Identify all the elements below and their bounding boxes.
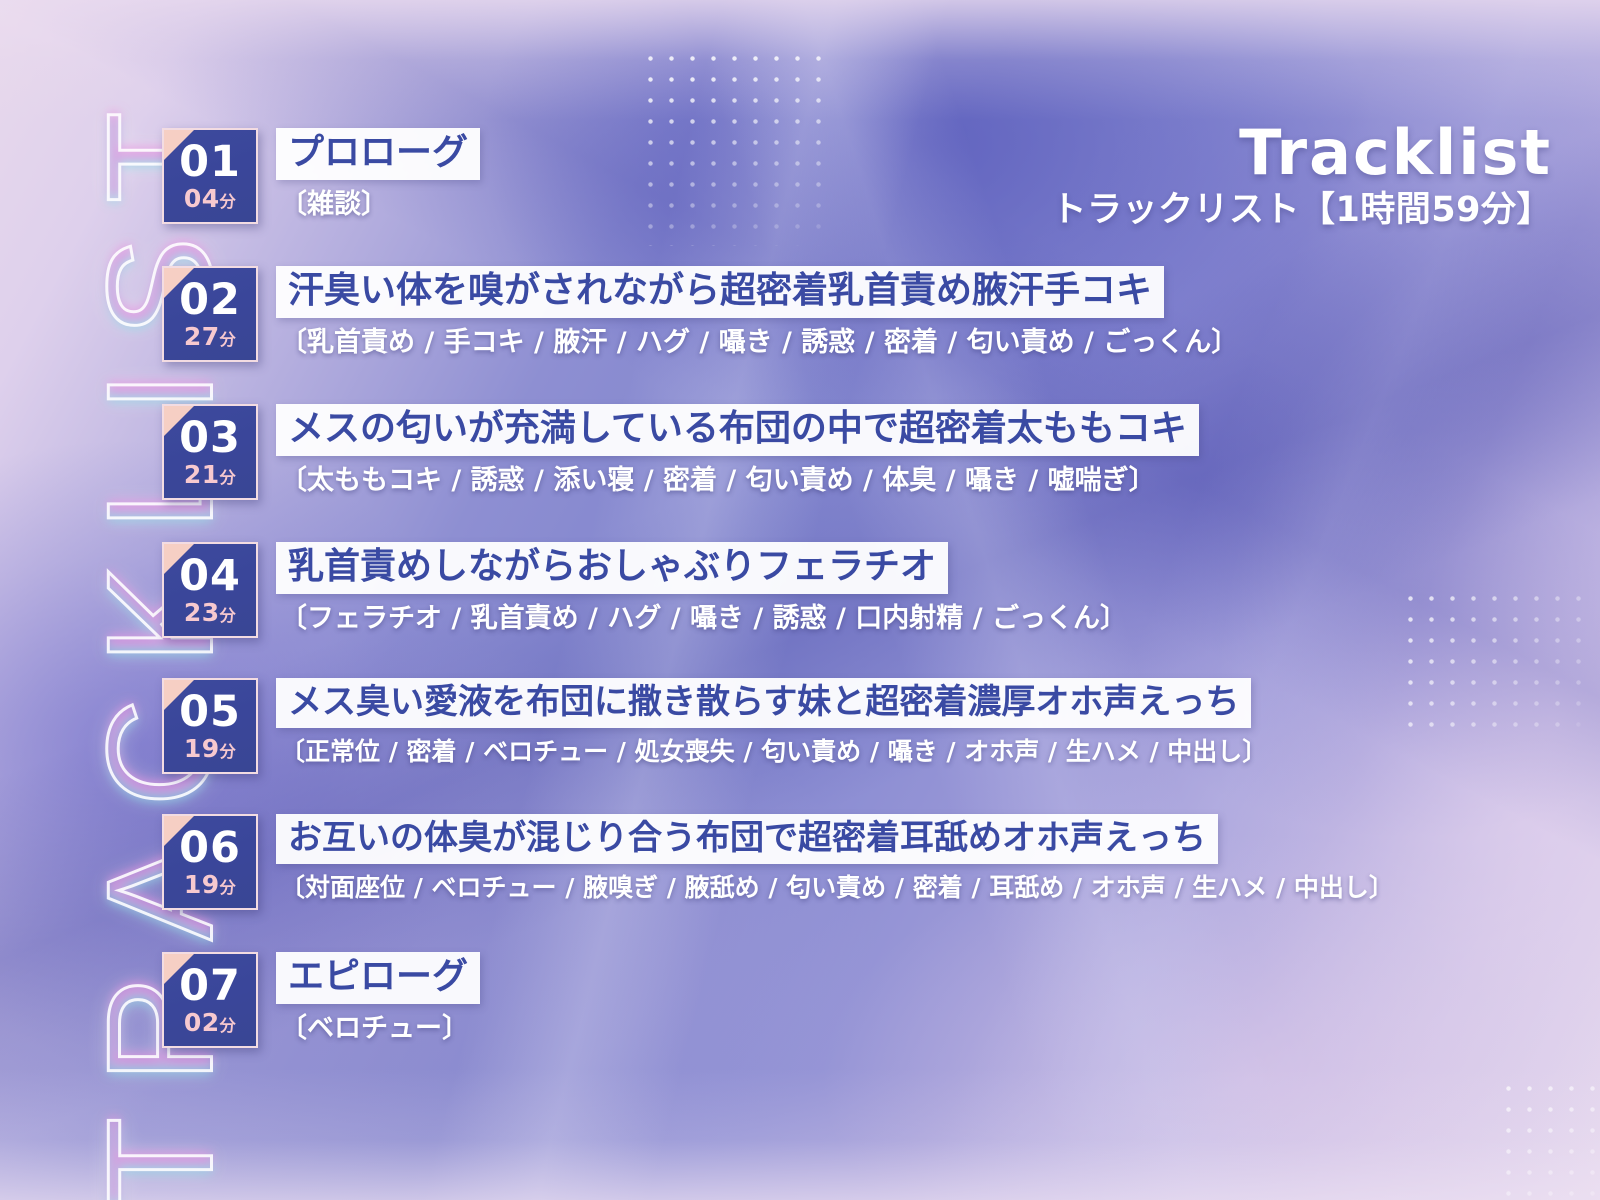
track-number-badge: 0227分: [162, 266, 258, 362]
track-number-badge: 0321分: [162, 404, 258, 500]
track-row[interactable]: 0702分エピローグ〔ベロチュー〕: [162, 952, 480, 1048]
track-row[interactable]: 0619分お互いの体臭が混じり合う布団で超密着耳舐めオホ声えっち〔対面座位 / …: [162, 814, 1394, 910]
track-duration-value: 27: [184, 322, 220, 351]
track-duration-unit: 分: [220, 606, 237, 625]
track-body: プロローグ〔雑談〕: [276, 128, 480, 222]
track-duration-unit: 分: [220, 468, 237, 487]
track-duration: 02分: [184, 1010, 236, 1035]
track-title: エピローグ: [276, 952, 480, 1004]
track-duration: 19分: [184, 872, 236, 897]
track-body: エピローグ〔ベロチュー〕: [276, 952, 480, 1046]
page-subtitle: トラックリスト【1時間59分】: [1051, 190, 1552, 230]
tracklist-poster: TRACKLIST Tracklist トラックリスト【1時間59分】 0104…: [0, 0, 1600, 1200]
track-row[interactable]: 0519分メス臭い愛液を布団に撒き散らす妹と超密着濃厚オホ声えっち〔正常位 / …: [162, 678, 1267, 774]
track-row[interactable]: 0321分メスの匂いが充満している布団の中で超密着太ももコキ〔太ももコキ / 誘…: [162, 404, 1199, 500]
track-number: 01: [179, 141, 241, 183]
track-title: プロローグ: [276, 128, 480, 180]
track-duration-value: 19: [184, 870, 220, 899]
track-title: 乳首責めしながらおしゃぶりフェラチオ: [276, 542, 948, 594]
track-duration-value: 19: [184, 734, 220, 763]
track-body: お互いの体臭が混じり合う布団で超密着耳舐めオホ声えっち〔対面座位 / ベロチュー…: [276, 814, 1394, 903]
track-body: メスの匂いが充満している布団の中で超密着太ももコキ〔太ももコキ / 誘惑 / 添…: [276, 404, 1199, 498]
track-number: 03: [179, 417, 241, 459]
track-number-badge: 0423分: [162, 542, 258, 638]
track-title: 汗臭い体を嗅がされながら超密着乳首責め腋汗手コキ: [276, 266, 1164, 318]
track-duration-unit: 分: [220, 1016, 237, 1035]
track-duration-unit: 分: [220, 192, 237, 211]
track-body: メス臭い愛液を布団に撒き散らす妹と超密着濃厚オホ声えっち〔正常位 / 密着 / …: [276, 678, 1267, 767]
track-row[interactable]: 0104分プロローグ〔雑談〕: [162, 128, 480, 224]
track-row[interactable]: 0227分汗臭い体を嗅がされながら超密着乳首責め腋汗手コキ〔乳首責め / 手コキ…: [162, 266, 1238, 362]
track-body: 乳首責めしながらおしゃぶりフェラチオ〔フェラチオ / 乳首責め / ハグ / 囁…: [276, 542, 1127, 636]
track-duration: 04分: [184, 186, 236, 211]
track-number-badge: 0104分: [162, 128, 258, 224]
track-title: メスの匂いが充満している布団の中で超密着太ももコキ: [276, 404, 1199, 456]
track-tags: 〔正常位 / 密着 / ベロチュー / 処女喪失 / 匂い責め / 囁き / オ…: [276, 737, 1267, 767]
track-tags: 〔乳首責め / 手コキ / 腋汗 / ハグ / 囁き / 誘惑 / 密着 / 匂…: [276, 327, 1238, 359]
track-title: メス臭い愛液を布団に撒き散らす妹と超密着濃厚オホ声えっち: [276, 678, 1251, 728]
track-number: 05: [179, 691, 241, 733]
dot-grid-decoration-corner: [1498, 1078, 1600, 1200]
track-duration: 27分: [184, 324, 236, 349]
track-duration-value: 04: [184, 184, 220, 213]
track-duration-unit: 分: [220, 878, 237, 897]
track-duration-value: 21: [184, 460, 220, 489]
track-number-badge: 0702分: [162, 952, 258, 1048]
track-number-badge: 0519分: [162, 678, 258, 774]
track-body: 汗臭い体を嗅がされながら超密着乳首責め腋汗手コキ〔乳首責め / 手コキ / 腋汗…: [276, 266, 1238, 360]
track-tags: 〔ベロチュー〕: [276, 1013, 469, 1045]
track-duration-unit: 分: [220, 742, 237, 761]
track-title: お互いの体臭が混じり合う布団で超密着耳舐めオホ声えっち: [276, 814, 1218, 864]
dot-grid-decoration-right: [1400, 588, 1582, 738]
track-tags: 〔太ももコキ / 誘惑 / 添い寝 / 密着 / 匂い責め / 体臭 / 囁き …: [276, 465, 1156, 497]
track-duration-value: 02: [184, 1008, 220, 1037]
track-tags: 〔雑談〕: [276, 189, 388, 221]
track-duration-value: 23: [184, 598, 220, 627]
track-row[interactable]: 0423分乳首責めしながらおしゃぶりフェラチオ〔フェラチオ / 乳首責め / ハ…: [162, 542, 1127, 638]
track-tags: 〔対面座位 / ベロチュー / 腋嗅ぎ / 腋舐め / 匂い責め / 密着 / …: [276, 873, 1394, 903]
track-duration: 23分: [184, 600, 236, 625]
track-duration: 19分: [184, 736, 236, 761]
track-number-badge: 0619分: [162, 814, 258, 910]
track-number: 07: [179, 965, 241, 1007]
page-title: Tracklist: [1051, 122, 1552, 184]
track-tags: 〔フェラチオ / 乳首責め / ハグ / 囁き / 誘惑 / 口内射精 / ごっ…: [276, 603, 1127, 635]
track-duration-unit: 分: [220, 330, 237, 349]
header: Tracklist トラックリスト【1時間59分】: [1051, 122, 1552, 230]
track-number: 02: [179, 279, 241, 321]
dot-grid-decoration-top: [640, 48, 832, 246]
track-number: 04: [179, 555, 241, 597]
track-duration: 21分: [184, 462, 236, 487]
track-number: 06: [179, 827, 241, 869]
